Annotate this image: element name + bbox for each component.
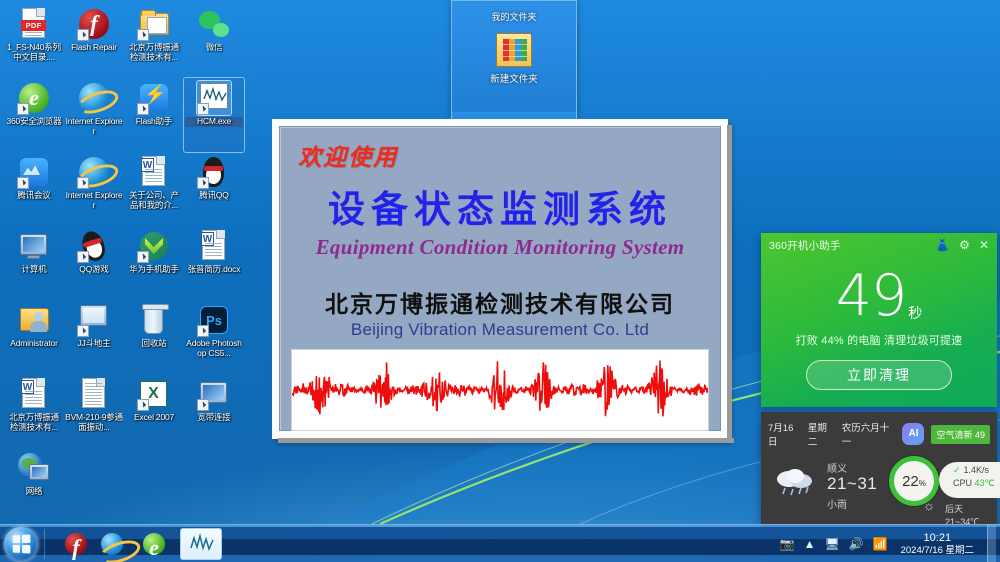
tray-network-icon[interactable]: 🖥 bbox=[824, 538, 839, 550]
clean-now-button[interactable]: 立即清理 bbox=[806, 360, 952, 390]
tray-device-icon[interactable]: 📷 bbox=[780, 538, 795, 550]
cpu-label: CPU bbox=[953, 478, 972, 488]
excel-icon bbox=[137, 377, 171, 411]
desktop-icon-excel-2007[interactable]: Excel 2007 bbox=[124, 374, 184, 448]
shirt-icon[interactable]: 👗 bbox=[935, 239, 950, 251]
desktop-icon-label: 华为手机助手 bbox=[125, 265, 183, 275]
boot-rank-subtitle: 打败 44% 的电脑 清理垃圾可提速 bbox=[761, 332, 997, 348]
desktop-icon-qq-game[interactable]: QQ游戏 bbox=[64, 226, 124, 300]
desktop-icon-tencent-qq[interactable]: 腾讯QQ bbox=[184, 152, 244, 226]
photoshop-icon bbox=[197, 303, 231, 337]
browser-360-icon bbox=[142, 532, 166, 556]
hcm-icon bbox=[197, 81, 231, 115]
desktop-icon-label: Excel 2007 bbox=[125, 413, 183, 423]
360-boot-assistant-widget[interactable]: 360开机小助手 👗 ⚙ ✕ 49秒 打败 44% 的电脑 清理垃圾可提速 立即… bbox=[761, 233, 997, 407]
desktop-icon-resume-docx[interactable]: W 张普简历.docx bbox=[184, 226, 244, 300]
desktop-icon-tencent-meeting[interactable]: 腾讯会议 bbox=[4, 152, 64, 226]
desktop-icon-network[interactable]: 网络 bbox=[4, 448, 64, 522]
rain-cloud-icon bbox=[773, 466, 819, 498]
desktop-icon-word-bvm[interactable]: W 北京万博振通检测技术有... bbox=[4, 374, 64, 448]
flash-icon bbox=[64, 532, 88, 556]
boot-seconds-value: 49 bbox=[836, 263, 907, 329]
weather-condition: 小雨 bbox=[827, 496, 847, 511]
huawei-icon bbox=[137, 229, 171, 263]
ie-icon bbox=[77, 155, 111, 189]
desktop-icon-ie-2[interactable]: Internet Explorer bbox=[64, 152, 124, 226]
cpu-usage-unit: % bbox=[919, 479, 926, 488]
desktop-icon-photoshop[interactable]: Adobe Photoshop CS5... bbox=[184, 300, 244, 374]
folder-preview-popup[interactable]: 我的文件夹 新建文件夹 bbox=[451, 0, 577, 118]
desktop-icon-recycle-bin[interactable]: 回收站 bbox=[124, 300, 184, 374]
desktop-icon-label: 腾讯会议 bbox=[5, 191, 63, 201]
wechat-icon bbox=[197, 7, 231, 41]
system-tray: 📷 ▲ 🖥 🔊 📶 10:21 2024/7/16 星期二 bbox=[780, 525, 996, 562]
desktop-icon-label: Adobe Photoshop CS5... bbox=[185, 339, 243, 358]
tray-volume-icon[interactable]: 🔊 bbox=[849, 538, 864, 550]
desktop-icon-ie-1[interactable]: Internet Explorer bbox=[64, 78, 124, 152]
network-speed: 1.4K/s bbox=[964, 465, 990, 475]
splash-dialog[interactable]: 欢迎使用 设备状态监测系统 Equipment Condition Monito… bbox=[272, 119, 728, 439]
desktop-icon-label: 计算机 bbox=[5, 265, 63, 275]
desktop-icon-label: 北京万博振通检测技术有... bbox=[5, 413, 63, 432]
desktop-icon-label: BVM-210-9参通面振动... bbox=[65, 413, 123, 432]
desktop-icon-label: 网络 bbox=[5, 487, 63, 497]
desktop-icon-label: Flash Repair bbox=[65, 43, 123, 53]
desktop-icon-broadband[interactable]: 宽带连接 bbox=[184, 374, 244, 448]
network-icon bbox=[17, 451, 51, 485]
folder-popup-caption: 我的文件夹 bbox=[452, 1, 576, 23]
widget-360-titlebar: 360开机小助手 👗 ⚙ ✕ bbox=[761, 233, 997, 257]
gear-icon[interactable]: ⚙ bbox=[959, 239, 970, 251]
weather-weekday: 星期二 bbox=[808, 420, 835, 448]
desktop-icon-label: HCM.exe bbox=[185, 117, 243, 127]
desktop-icon-label: 腾讯QQ bbox=[185, 191, 243, 201]
company-name-en: Beijing Vibration Measurement Co. Ltd bbox=[280, 320, 720, 340]
desktop-icon-label: 张普简历.docx bbox=[185, 265, 243, 275]
cpu-usage-value: 22 bbox=[902, 473, 919, 490]
sun-icon: ☼ bbox=[923, 498, 941, 516]
taskbar-button-360-browser[interactable] bbox=[136, 528, 172, 560]
desktop-icon-label: Administrator bbox=[5, 339, 63, 349]
desktop-icon-label: Internet Explorer bbox=[65, 191, 123, 210]
desktop-icon-huawei-assistant[interactable]: 华为手机助手 bbox=[124, 226, 184, 300]
vibration-waveform bbox=[292, 350, 708, 430]
doc-icon bbox=[77, 377, 111, 411]
desktop-icon-bvm-210-doc[interactable]: BVM-210-9参通面振动... bbox=[64, 374, 124, 448]
weather-header: 7月16日 星期二 农历六月十一 AI 空气清新 49 bbox=[761, 412, 997, 448]
desktop-icon-label: Flash助手 bbox=[125, 117, 183, 127]
word-doc-icon: W bbox=[17, 377, 51, 411]
folder-popup-name: 新建文件夹 bbox=[452, 71, 576, 85]
flash-icon bbox=[77, 7, 111, 41]
desktop-icon-label: JJ斗地主 bbox=[65, 339, 123, 349]
start-button[interactable] bbox=[4, 527, 38, 561]
pdf-icon: PDF bbox=[17, 7, 51, 41]
weather-temp-range: 21~31 bbox=[827, 474, 877, 494]
flash-helper-icon bbox=[137, 81, 171, 115]
qq-game-icon bbox=[77, 229, 111, 263]
vibration-waveform-panel bbox=[291, 349, 709, 431]
company-name-cn: 北京万博振通检测技术有限公司 bbox=[280, 285, 720, 319]
desktop-icon-label: 北京万博振通检测技术有... bbox=[125, 43, 183, 62]
desktop-icon-grid: PDF 1_FS-N40系列中文目录.... Flash Repair 北京万博… bbox=[4, 4, 244, 524]
desktop-icon-label: QQ游戏 bbox=[65, 265, 123, 275]
tencent-meeting-icon bbox=[17, 155, 51, 189]
desktop-icon-administrator[interactable]: Administrator bbox=[4, 300, 64, 374]
dialog-shadow-right bbox=[727, 125, 732, 443]
desktop-icon-label: 微信 bbox=[185, 43, 243, 53]
folder-color-icon bbox=[494, 33, 534, 67]
tray-signal-icon[interactable]: 📶 bbox=[873, 538, 888, 550]
taskbar-button-ie[interactable] bbox=[94, 528, 130, 560]
boot-time-readout: 49秒 bbox=[761, 269, 997, 323]
desktop-icon-word-about-company[interactable]: W 关于公司、产品和我的介... bbox=[124, 152, 184, 226]
window-icon bbox=[77, 303, 111, 337]
taskbar-button-hcm[interactable] bbox=[180, 528, 222, 560]
computer-icon bbox=[17, 229, 51, 263]
recycle-bin-icon bbox=[137, 303, 171, 337]
desktop-icon-pdf[interactable]: PDF 1_FS-N40系列中文目录.... bbox=[4, 4, 64, 78]
folder-icon bbox=[137, 7, 171, 41]
desktop-icon-jj-landlord[interactable]: JJ斗地主 bbox=[64, 300, 124, 374]
desktop-icon-label: 360安全浏览器 bbox=[5, 117, 63, 127]
ai-badge[interactable]: AI bbox=[902, 423, 924, 445]
ie-icon bbox=[100, 532, 124, 556]
taskbar-clock[interactable]: 10:21 2024/7/16 星期二 bbox=[897, 532, 978, 557]
dialog-shadow-bottom bbox=[278, 438, 734, 443]
check-icon: ✓ bbox=[953, 465, 961, 475]
qq-icon bbox=[197, 155, 231, 189]
widget-360-title: 360开机小助手 bbox=[769, 238, 926, 253]
desktop-icon-flash-repair[interactable]: Flash Repair bbox=[64, 4, 124, 78]
app-title-en: Equipment Condition Monitoring System bbox=[280, 235, 720, 260]
clock-time: 10:21 bbox=[901, 532, 974, 545]
desktop-icon-360-browser[interactable]: 360安全浏览器 bbox=[4, 78, 64, 152]
desktop-icon-label: 宽带连接 bbox=[185, 413, 243, 423]
system-monitor-pill[interactable]: ✓1.4K/s CPU 43℃ + bbox=[939, 462, 1000, 498]
desktop-icon-label: 回收站 bbox=[125, 339, 183, 349]
clock-date: 2024/7/16 星期二 bbox=[901, 545, 974, 557]
ie-icon bbox=[77, 81, 111, 115]
desktop-icon-computer[interactable]: 计算机 bbox=[4, 226, 64, 300]
desktop-icon-wechat[interactable]: 微信 bbox=[184, 4, 244, 78]
close-icon[interactable]: ✕ bbox=[979, 239, 989, 251]
hcm-icon bbox=[190, 533, 214, 557]
taskbar: 📷 ▲ 🖥 🔊 📶 10:21 2024/7/16 星期二 bbox=[0, 524, 1000, 562]
splash-content: 欢迎使用 设备状态监测系统 Equipment Condition Monito… bbox=[279, 126, 721, 431]
desktop-icon-label: 关于公司、产品和我的介... bbox=[125, 191, 183, 210]
word-doc-icon: W bbox=[137, 155, 171, 189]
show-desktop-button[interactable] bbox=[987, 525, 996, 562]
weather-date: 7月16日 bbox=[768, 420, 801, 448]
user-folder-icon bbox=[17, 303, 51, 337]
cpu-temp: 43℃ bbox=[975, 478, 995, 488]
boot-seconds-unit: 秒 bbox=[908, 305, 922, 321]
windows-logo-icon bbox=[13, 534, 31, 553]
tray-show-hidden-icon[interactable]: ▲ bbox=[804, 538, 816, 550]
welcome-text: 欢迎使用 bbox=[298, 138, 398, 172]
weather-system-widget[interactable]: 7月16日 星期二 农历六月十一 AI 空气清新 49 顺义 21~31 小雨 … bbox=[761, 412, 997, 524]
desktop-icon-flash-helper[interactable]: Flash助手 bbox=[124, 78, 184, 152]
taskbar-button-flash[interactable] bbox=[58, 528, 94, 560]
weather-lunar: 农历六月十一 bbox=[842, 420, 896, 448]
broadband-icon bbox=[197, 377, 231, 411]
desktop-icon-hcm-exe[interactable]: HCM.exe bbox=[184, 78, 244, 152]
aqi-badge: 空气清新 49 bbox=[931, 425, 990, 444]
app-title-cn: 设备状态监测系统 bbox=[280, 179, 720, 233]
word-doc-icon: W bbox=[197, 229, 231, 263]
desktop-icon-label: Internet Explorer bbox=[65, 117, 123, 136]
browser-360-icon bbox=[17, 81, 51, 115]
desktop-icon-label: 1_FS-N40系列中文目录.... bbox=[5, 43, 63, 62]
weather-body: 顺义 21~31 小雨 22% ✓1.4K/s CPU 43℃ + ☼ 后天 2… bbox=[761, 448, 997, 518]
desktop-icon-bvm-folder[interactable]: 北京万博振通检测技术有... bbox=[124, 4, 184, 78]
weather-location[interactable]: 顺义 bbox=[827, 460, 847, 475]
taskbar-divider bbox=[44, 529, 45, 559]
